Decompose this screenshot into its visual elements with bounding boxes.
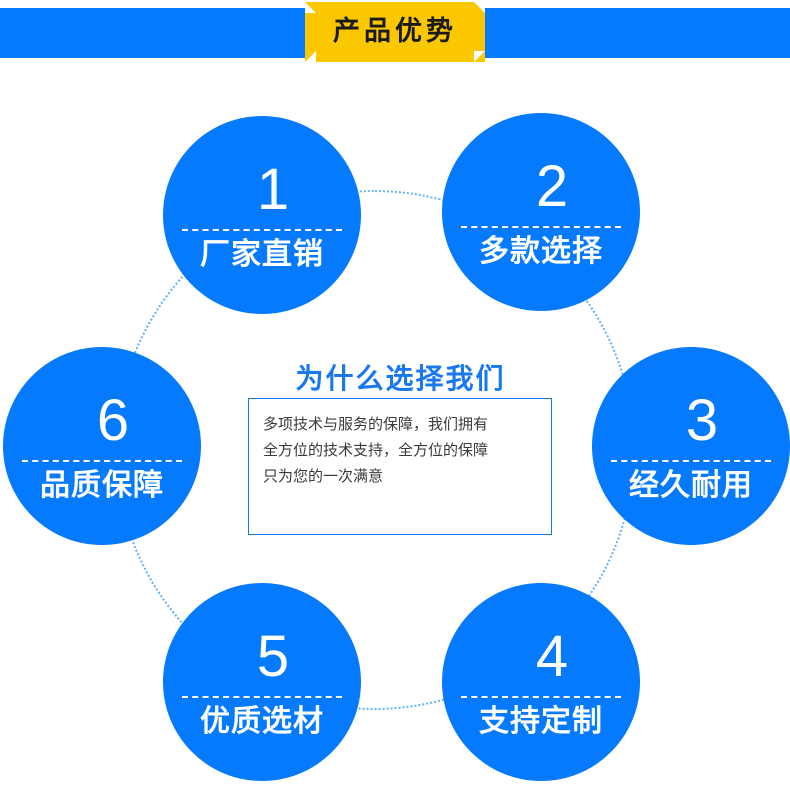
advantage-label-1: 厂家直销 (200, 240, 324, 270)
advantage-circle-3[interactable]: 3 经久耐用 (592, 347, 790, 545)
advantage-label-4: 支持定制 (479, 707, 603, 737)
center-heading: 为什么选择我们 (248, 357, 553, 397)
advantage-number-4: 4 (536, 628, 568, 686)
divider-3 (611, 460, 771, 462)
advantage-number-6: 6 (97, 392, 129, 450)
advantage-label-2: 多款选择 (479, 237, 603, 267)
description-line-3: 只为您的一次满意 (263, 463, 537, 489)
divider-1 (182, 229, 342, 231)
divider-4 (461, 696, 621, 698)
advantage-circle-5[interactable]: 5 优质选材 (163, 583, 361, 781)
description-line-1: 多项技术与服务的保障，我们拥有 (263, 411, 537, 437)
advantage-label-3: 经久耐用 (629, 471, 753, 501)
advantage-circle-2[interactable]: 2 多款选择 (442, 113, 640, 311)
advantage-circle-1[interactable]: 1 厂家直销 (163, 116, 361, 314)
advantage-number-1: 1 (257, 161, 289, 219)
page-title: 产品优势 (305, 2, 485, 62)
advantage-number-3: 3 (686, 392, 718, 450)
advantage-number-2: 2 (536, 158, 568, 216)
advantage-label-6: 品质保障 (40, 471, 164, 501)
divider-6 (22, 460, 182, 462)
advantage-circle-4[interactable]: 4 支持定制 (442, 583, 640, 781)
center-description-box: 多项技术与服务的保障，我们拥有 全方位的技术支持，全方位的保障 只为您的一次满意 (248, 398, 552, 535)
advantage-label-5: 优质选材 (200, 707, 324, 737)
advantage-circle-6[interactable]: 6 品质保障 (3, 347, 201, 545)
product-advantages-infographic: 产品优势 1 厂家直销 2 多款选择 3 经久耐用 4 支持定制 5 优质选材 … (0, 0, 790, 801)
description-line-2: 全方位的技术支持，全方位的保障 (263, 437, 537, 463)
divider-5 (182, 696, 342, 698)
divider-2 (461, 226, 621, 228)
advantage-number-5: 5 (257, 628, 289, 686)
